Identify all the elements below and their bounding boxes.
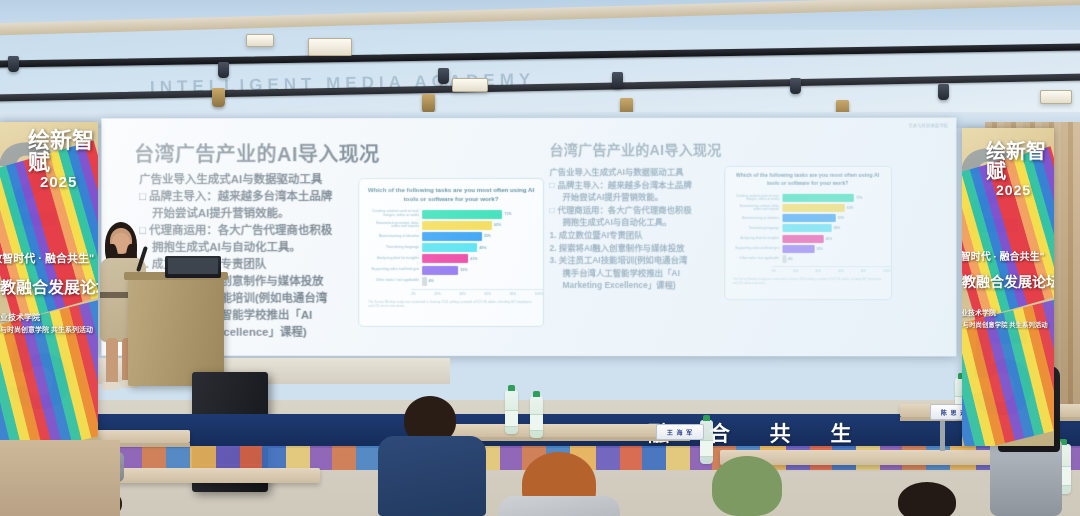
bottle-cap [703, 415, 710, 421]
audience-desk [440, 424, 690, 437]
bullet-number: 1. 成立数位暨AI专责团队 [550, 229, 725, 242]
chart-bar-track: 53% [422, 232, 535, 241]
audience-head [712, 456, 782, 516]
audience-head [898, 482, 956, 516]
chart-x-tick: 40% [460, 292, 466, 296]
chart-bar-track: 32% [422, 266, 535, 275]
chart-bar [422, 210, 502, 219]
chart-category-label: Creating content such as text, images, v… [732, 194, 782, 201]
banner-forum-name: 产教融合发展论坛 [962, 272, 1054, 292]
bullet-square: 代理商运用：各大广告代理商也积极 [139, 223, 353, 240]
laptop-screen [168, 258, 218, 274]
chart-bar [782, 235, 824, 243]
desk-leg [940, 421, 945, 451]
ceiling-panel-light [452, 78, 488, 92]
spotlight-icon [422, 94, 435, 113]
banner-organizer: 职业技术学院 [0, 312, 40, 323]
chart-value-label: 71% [504, 212, 511, 216]
banner-title: 绘新智赋 [986, 142, 1054, 182]
chart-category-label: Analysing data for insights [732, 237, 782, 240]
chart-category-label: Translating language [367, 246, 422, 250]
chart-bar-track: 4% [422, 277, 535, 286]
institution-logo: 艺术与时尚创意学院 [909, 124, 949, 130]
banner-subtitle: "数智时代 · 融合共生" [0, 250, 94, 266]
bottle-label [530, 414, 543, 431]
chart-category-label: Brainstorming or ideation [732, 217, 782, 220]
chart-value-label: 41% [470, 257, 477, 261]
chart-title: Which of the following tasks are you mos… [359, 186, 543, 205]
chart-bar [422, 243, 477, 252]
chart-title-right: Which of the following tasks are you mos… [725, 173, 891, 189]
chart-value-label: 53% [484, 234, 491, 238]
slide-bullet-list-right: 广告业导入生成式AI与数据驱动工具 品牌主导入：越来越多台湾本土品牌 开始尝试A… [550, 166, 725, 292]
chart-bar-row: Summarising content, data, notes and rep… [367, 221, 535, 230]
ceiling-panel-light [308, 38, 352, 56]
chart-bar [782, 245, 814, 253]
laptop [165, 256, 221, 278]
bottle-label [700, 440, 713, 457]
bullet-head: 广告业导入生成式AI与数据驱动工具 [139, 172, 353, 189]
bullet-number: 2. 探索将AI融入创意制作与媒体投放 [550, 242, 725, 255]
chart-x-tick: 0% [772, 269, 776, 273]
chart-category-label: Summarising content, data, notes and rep… [367, 222, 422, 229]
chart-bar [422, 277, 427, 286]
chart-bar-row: Translating language49% [367, 243, 535, 252]
banner-organizer: 职业技术学院 [962, 308, 996, 318]
chart-x-tick: 40% [815, 269, 821, 273]
chart-value-label: 62% [494, 223, 501, 227]
bullet-square: 品牌主导入：越来越多台湾本土品牌 [139, 189, 353, 206]
slide-title: 台湾广告产业的AI导入现况 [134, 138, 379, 167]
chart-bar-row: Supporting sales and lead gen32% [367, 265, 535, 274]
chart-value-label: 71% [856, 196, 862, 200]
chart-bar-row: Other tasks / not applicable4% [367, 277, 535, 286]
spotlight-icon [212, 88, 225, 107]
chart-bar-row: Supporting sales and lead gen32% [732, 245, 884, 253]
chart-bar-track: 53% [782, 214, 883, 222]
chart-value-label: 4% [788, 257, 793, 261]
chart-bar-track: 62% [782, 204, 883, 212]
banner-forum-name: 产教融合发展论坛 [0, 274, 98, 298]
conference-photo: INTELLIGENT MEDIA ACADEMY 台湾广告产业的AI导入现况 … [0, 0, 1080, 516]
chart-bar-track: 71% [782, 194, 883, 202]
banner-organizer-sub: 艺术与时尚创意学院 共生系列活动 [0, 325, 93, 335]
chart-bar-track: 49% [422, 243, 535, 252]
chart-value-label: 49% [479, 246, 486, 250]
slide-right: 艺术与时尚创意学院 台湾广告产业的AI导入现况 广告业导入生成式AI与数据驱动工… [528, 118, 957, 357]
chart-category-label: Brainstorming or ideation [367, 235, 422, 239]
podium [128, 276, 224, 386]
chart-x-tick: 60% [838, 269, 844, 273]
banner-organizer-sub: 艺术与时尚创意学院 共生系列活动 [962, 320, 1048, 329]
bullet-indent: Marketing Excellence」课程) [550, 279, 725, 292]
bullet-square: 品牌主导入：越来越多台湾本土品牌 [550, 179, 725, 192]
banner-title: 绘新智赋 [28, 130, 98, 174]
chart-value-label: 49% [834, 226, 840, 230]
speaker-leg [106, 338, 118, 386]
chart-footnote: The Survey Monkey study was conducted in… [368, 300, 534, 309]
water-bottle [505, 390, 518, 434]
chart-bar [422, 266, 458, 275]
chart-plot-right: Creating content such as text, images, v… [732, 194, 884, 263]
speaker-shoe [101, 382, 121, 390]
chart-bar-row: Analysing data for insights41% [732, 235, 884, 243]
chart-footnote-right: The Survey Monkey study was conducted in… [733, 277, 883, 285]
chart-bar-row: Creating content such as text, images, v… [732, 194, 884, 202]
spotlight-icon [938, 84, 949, 100]
chart-bar-row: Analysing data for insights41% [367, 254, 535, 263]
chart-x-tick: 80% [860, 269, 866, 273]
chart-bar [782, 204, 845, 212]
bullet-number: 3. 关注员工AI技能培训(例如电通台湾 [550, 254, 725, 267]
ceiling-panel-light [1040, 90, 1072, 104]
chart-bar [422, 221, 492, 230]
chart-category-label: Supporting sales and lead gen [732, 247, 782, 250]
bullet-indent: 拥抱生成式AI与自动化工具。 [550, 216, 725, 229]
bottle-cap [508, 385, 515, 391]
chart-bar [422, 232, 482, 241]
chart-bar-row: Translating language49% [732, 224, 884, 232]
bottle-cap [533, 391, 540, 397]
bullet-indent: 开始尝试AI提升营销效能。 [550, 191, 725, 204]
bullet-indent: 开始尝试AI提升营销效能。 [139, 206, 353, 223]
bullet-square: 代理商运用：各大广告代理商也积极 [550, 204, 725, 217]
audience-body [498, 496, 620, 516]
chart-bar [782, 214, 836, 222]
bullet-head: 广告业导入生成式AI与数据驱动工具 [550, 166, 725, 179]
chart-bar-track: 62% [422, 221, 535, 230]
spotlight-icon [218, 62, 229, 78]
banner-year: 2025 [40, 174, 77, 191]
chart-bar [782, 194, 854, 202]
chart-bar-track: 41% [782, 235, 883, 243]
bullet-indent: 携手台湾人工智能学校推出「AI [550, 267, 725, 280]
chart-category-label: Creating content such as text, images, v… [367, 210, 422, 217]
chart-x-tick: 0% [411, 292, 416, 296]
chart-x-tick: 20% [793, 269, 799, 273]
chart-category-label: Analysing data for insights [367, 257, 422, 261]
chart-bar-track: 4% [782, 255, 883, 263]
chart-category-label: Summarising content, data, notes and rep… [732, 205, 782, 212]
chart-bar [782, 255, 786, 263]
spotlight-icon [8, 56, 19, 72]
chart-plot-left: Creating content such as text, images, v… [367, 210, 535, 286]
chart-value-label: 62% [847, 206, 853, 210]
chart-bar-track: 71% [422, 210, 535, 219]
chart-value-label: 32% [460, 268, 467, 272]
slide-title-right: 台湾广告产业的AI导入现况 [550, 140, 722, 160]
spotlight-icon [438, 68, 449, 84]
banner-year: 2025 [996, 182, 1031, 198]
chart-bar-track: 41% [422, 254, 535, 263]
event-banner-left: 2 5 绘新智赋 2025 "数智时代 · 融合共生" 产教融合发展论坛 职业技… [0, 122, 98, 452]
spotlight-icon [612, 72, 623, 88]
desk-nameplate: 王 海 军 [656, 424, 704, 440]
bottle-label [505, 410, 518, 427]
chart-category-label: Translating language [732, 227, 782, 230]
chart-bar [422, 254, 468, 263]
chart-bar-track: 32% [782, 245, 883, 253]
chart-value-label: 4% [429, 279, 434, 283]
chart-x-tick: 60% [485, 292, 491, 296]
left-wall-panel [0, 440, 120, 516]
chart-bar-row: Brainstorming or ideation53% [732, 214, 884, 222]
chart-bar-row: Other tasks / not applicable4% [732, 255, 884, 263]
audience-body [378, 436, 486, 516]
chart-value-label: 53% [838, 216, 844, 220]
chart-bar-row: Summarising content, data, notes and rep… [732, 204, 884, 212]
chart-card: Which of the following tasks are you mos… [358, 178, 544, 327]
chart-category-label: Other tasks / not applicable [732, 257, 782, 260]
chart-x-tick: 100% [883, 269, 890, 273]
banner-subtitle: "数智时代 · 融合共生" [962, 248, 1044, 263]
ceiling-panel-light [246, 34, 274, 47]
chart-x-axis-right: 0%20%40%60%80%100% [772, 266, 891, 273]
chart-card-right: Which of the following tasks are you mos… [724, 166, 892, 300]
chart-value-label: 32% [816, 247, 822, 251]
projection-screen: 台湾广告产业的AI导入现况 广告业导入生成式AI与数据驱动工具 品牌主导入：越来… [101, 118, 956, 357]
bullet-indent: 拥抱生成式AI与自动化工具。 [139, 240, 353, 257]
chart-x-tick: 80% [510, 292, 516, 296]
spotlight-icon [790, 78, 801, 94]
chart-x-tick: 20% [434, 292, 440, 296]
chart-bar-row: Creating content such as text, images, v… [367, 210, 535, 219]
chart-bar [782, 224, 832, 232]
chart-value-label: 41% [826, 237, 832, 241]
chart-category-label: Supporting sales and lead gen [367, 268, 422, 272]
water-bottle [530, 396, 543, 438]
event-banner-right: 2 5 绘新智赋 2025 "数智时代 · 融合共生" 产教融合发展论坛 职业技… [962, 128, 1054, 446]
chart-bar-row: Brainstorming or ideation53% [367, 232, 535, 241]
chart-bar-track: 49% [782, 224, 883, 232]
chart-x-axis-left: 0%20%40%60%80%100% [411, 289, 543, 296]
chart-category-label: Other tasks / not applicable [367, 279, 422, 283]
